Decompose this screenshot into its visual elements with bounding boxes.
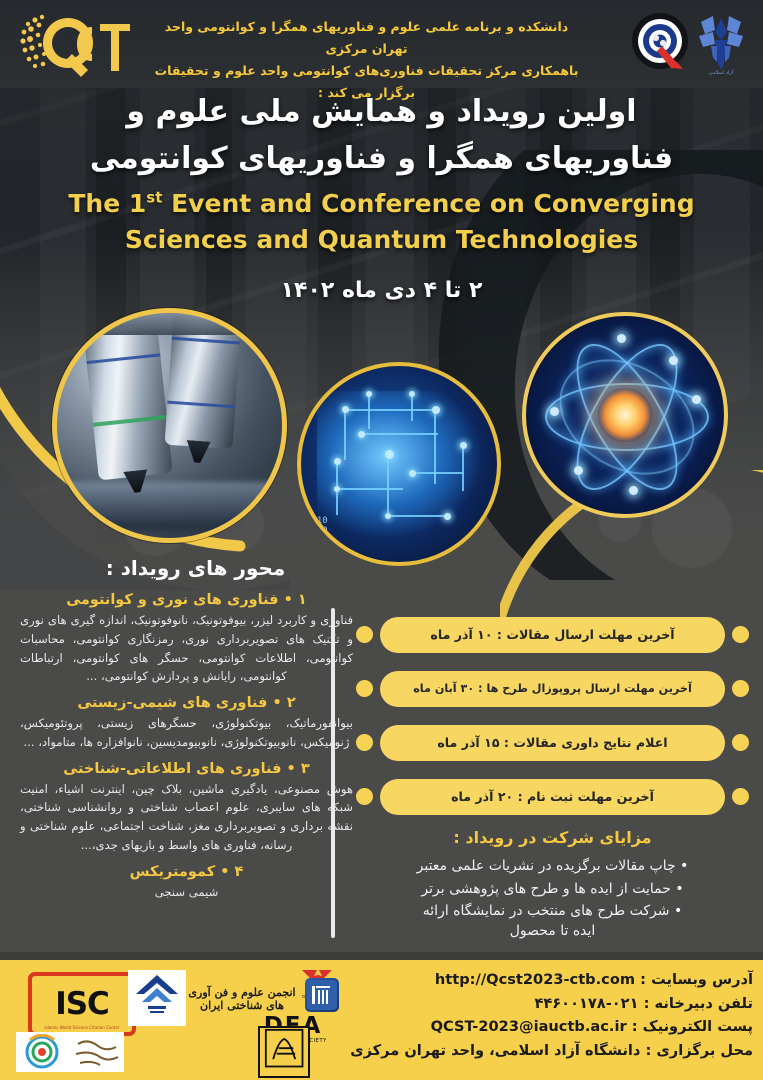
bullet-dot-icon: [356, 680, 373, 697]
bullet-dot-icon: [732, 788, 749, 805]
topic-body: هوش مصنوعی، یادگیری ماشین، بلاک چین، این…: [14, 780, 359, 855]
benefit-text: چاپ مقالات برگزیده در نشریات علمی معتبر: [417, 858, 676, 874]
deadline-pill: آخرین مهلت ثبت نام : ۲۰ آذر ماه: [380, 779, 725, 815]
topic-item: ۱ • فناوری های نوری و کوانتومی فناوری و …: [14, 592, 359, 686]
topic-label: فناوری های شیمی-زیستی: [77, 695, 267, 711]
topic-item: ۳ • فناوری های اطلاعاتی-شناختی هوش مصنوع…: [14, 761, 359, 855]
benefits-section: مزایای شرکت در رویداد : • چاپ مقالات برگ…: [356, 828, 749, 939]
phone-value: ۰۲۱-۴۴۶۰۰۱۷۸: [534, 995, 638, 1012]
topic-body: شیمی سنجی: [14, 883, 359, 902]
bullet-dot-icon: [356, 626, 373, 643]
topic-body: بیوانفورماتیک، بیوتکنولوژی، حسگرهای زیست…: [14, 714, 359, 752]
bullet-dot-icon: [732, 680, 749, 697]
partner-logo-1: [16, 1032, 124, 1072]
venue-label: محل برگزاری :: [646, 1042, 753, 1059]
azad-university-logo: [693, 10, 749, 74]
azad-logo-caption: آزاد اسلامی: [691, 70, 751, 76]
deadline-row: آخرین مهلت ارسال پروپوزال طرح ها : ۳۰ آب…: [356, 666, 749, 711]
deadline-pill: آخرین مهلت ارسال پروپوزال طرح ها : ۳۰ آب…: [380, 671, 725, 707]
topic-title: ۲ • فناوری های شیمی-زیستی: [14, 695, 359, 711]
topic-number: ۴: [235, 864, 244, 880]
deadline-pill: آخرین مهلت ارسال مقالات : ۱۰ آذر ماه: [380, 617, 725, 653]
topic-label: فناوری های نوری و کوانتومی: [66, 592, 278, 608]
contact-venue-line: محل برگزاری : دانشگاه آزاد اسلامی، واحد …: [338, 1039, 753, 1063]
email-label: پست الکترونیک :: [632, 1018, 753, 1035]
english-title: The 1st Event and Conference on Convergi…: [0, 186, 763, 259]
bullet-dot-icon: [732, 734, 749, 751]
topic-item: ۴ • کمومتریکس شیمی سنجی: [14, 864, 359, 902]
quantum-research-center-logo: [631, 12, 689, 70]
ordinal-suffix: st: [146, 189, 162, 207]
venue-value: دانشگاه آزاد اسلامی، واحد تهران مرکزی: [350, 1042, 640, 1059]
benefit-continuation: ایده تا محصول: [356, 923, 749, 939]
topic-number: ۳: [301, 761, 310, 777]
website-value[interactable]: http://Qcst2023-ctb.com: [435, 968, 635, 992]
benefit-item: • حمایت از ایده ها و طرح های پژوهشی برتر: [356, 878, 749, 901]
header-organizer-text: دانشکده و برنامه علمی علوم و فناوریهای ه…: [150, 16, 583, 104]
topic-number: ۲: [287, 695, 296, 711]
deadline-row: آخرین مهلت ارسال مقالات : ۱۰ آذر ماه: [356, 612, 749, 657]
bullet-dot-icon: [356, 734, 373, 751]
objective-lens-left: [83, 324, 172, 481]
persian-title-line-2: فناوریهای همگرا و فناوریهای کوانتومی: [60, 135, 703, 182]
topic-label: فناوری های اطلاعاتی-شناختی: [63, 761, 281, 777]
english-title-line-1: The 1st Event and Conference on Convergi…: [40, 186, 723, 222]
benefit-item: • شرکت طرح های منتخب در نمایشگاه ارائه: [356, 900, 749, 923]
bullet-dot-icon: [732, 626, 749, 643]
bullet-icon: •: [680, 858, 688, 874]
topic-item: ۲ • فناوری های شیمی-زیستی بیوانفورماتیک،…: [14, 695, 359, 752]
topic-title: ۱ • فناوری های نوری و کوانتومی: [14, 592, 359, 608]
isc-logo: ISC Islamic World Science Citation Cente…: [28, 972, 136, 1036]
footer: ISC Islamic World Science Citation Cente…: [0, 960, 763, 1080]
topic-label: کمومتریکس: [130, 864, 216, 880]
benefits-heading: مزایای شرکت در رویداد :: [356, 828, 749, 847]
benefit-text: حمایت از ایده ها و طرح های پژوهشی برتر: [421, 881, 670, 897]
benefit-item: • چاپ مقالات برگزیده در نشریات علمی معتب…: [356, 855, 749, 878]
conference-poster: دانشکده و برنامه علمی علوم و فناوریهای ه…: [0, 0, 763, 1080]
bullet-icon: •: [674, 903, 682, 919]
isc-label: ISC: [55, 989, 109, 1020]
english-title-line-2: Sciences and Quantum Technologies: [40, 222, 723, 258]
atom-nucleus: [598, 388, 652, 442]
atom-image: [522, 312, 728, 518]
benefit-text: شرکت طرح های منتخب در نمایشگاه ارائه: [423, 903, 670, 919]
footer-separator: [0, 952, 763, 960]
microscope-stage: [52, 482, 287, 530]
bullet-dot-icon: [356, 788, 373, 805]
header-line-2: باهمکاری مرکز تحقیقات فناوری‌های کوانتوم…: [150, 60, 583, 104]
contact-email-line: پست الکترونیک : QCST-2023@iauctb.ac.ir: [338, 1015, 753, 1039]
deadlines-section: آخرین مهلت ارسال مقالات : ۱۰ آذر ماه آخر…: [356, 612, 749, 828]
topic-title: ۳ • فناوری های اطلاعاتی-شناختی: [14, 761, 359, 777]
cognitive-society-label: انجمن علوم و فن آوری های شناختی ایران: [182, 986, 302, 1012]
topic-body: فناوری و کاربرد لیزر، بیوفوتونیک، نانوفو…: [14, 611, 359, 686]
website-icon: [305, 978, 339, 1012]
event-date: ۲ تا ۴ دی ماه ۱۴۰۲: [0, 278, 763, 303]
contact-info: آدرس وبسایت : http://Qcst2023-ctb.com تل…: [338, 968, 753, 1063]
topic-title: ۴ • کمومتریکس: [14, 864, 359, 880]
sponsor-logos: ISC Islamic World Science Citation Cente…: [6, 964, 336, 1076]
binary-digits: 0110 0100 1001 1001: [306, 516, 328, 556]
qcst-logo: [14, 8, 134, 80]
deadline-row: آخرین مهلت ثبت نام : ۲۰ آذر ماه: [356, 774, 749, 819]
bullet-icon: •: [675, 881, 683, 897]
deadline-row: اعلام نتایج داوری مقالات : ۱۵ آذر ماه: [356, 720, 749, 765]
english-title-main: Event and Conference on Converging: [171, 189, 695, 218]
microscope-image: [52, 308, 287, 543]
website-label: آدرس وبسایت :: [640, 971, 753, 988]
deadline-pill: اعلام نتایج داوری مقالات : ۱۵ آذر ماه: [380, 725, 725, 761]
english-title-prefix: The 1: [68, 189, 146, 218]
contact-phone-line: تلفن دبیرخانه : ۰۲۱-۴۴۶۰۰۱۷۸: [338, 992, 753, 1016]
header-line-1: دانشکده و برنامه علمی علوم و فناوریهای ه…: [150, 16, 583, 60]
shahid-beheshti-university-logo: [258, 1026, 310, 1078]
email-value[interactable]: QCST-2023@iauctb.ac.ir: [431, 1015, 627, 1039]
isc-sublabel: Islamic World Science Citation Center: [32, 1025, 132, 1030]
topics-section: محور های رویداد : ۱ • فناوری های نوری و …: [14, 556, 359, 911]
phone-label: تلفن دبیرخانه :: [644, 995, 753, 1012]
cognitive-society-logo: [128, 970, 186, 1026]
contact-website-line: آدرس وبسایت : http://Qcst2023-ctb.com: [338, 968, 753, 992]
topics-heading: محور های رویداد :: [14, 556, 359, 580]
circuit-brain-image: 0110 0100 1001 1001: [297, 362, 501, 566]
topic-number: ۱: [298, 592, 307, 608]
